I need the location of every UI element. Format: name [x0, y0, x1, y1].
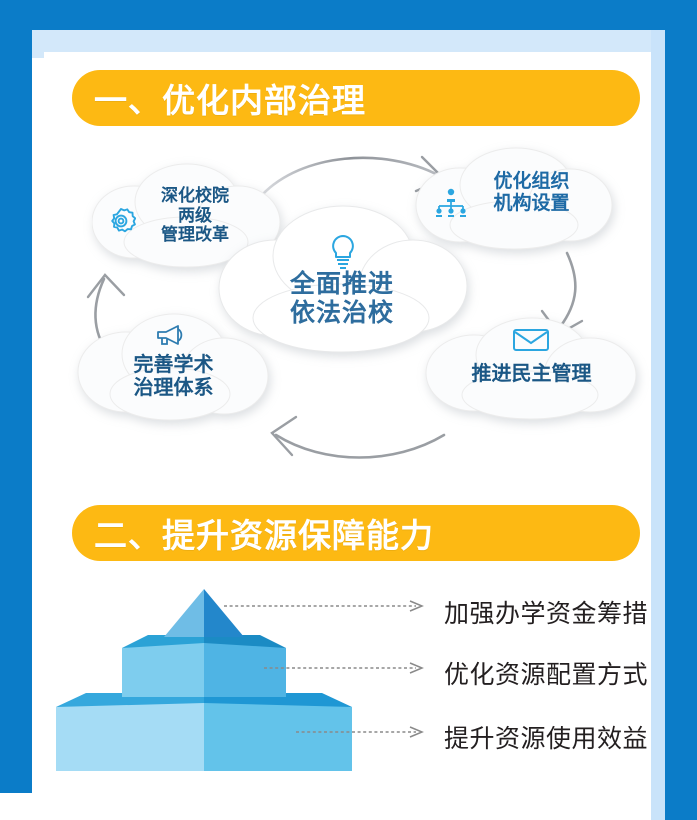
envelope-icon	[512, 327, 550, 358]
cloud-center[interactable]: 全面推进 依法治校	[217, 200, 467, 355]
cloud-bottom-left-label: 完善学术 治理体系	[96, 354, 251, 400]
arrow-bottom-path	[276, 435, 444, 458]
frame-inner-band-top	[32, 30, 665, 52]
infographic-page: 一、优化内部治理	[0, 0, 697, 820]
section-header-1-title: 一、优化内部治理	[72, 74, 366, 122]
arrow-bottom-head	[272, 417, 296, 455]
frame-inner-band-left	[32, 30, 44, 58]
cloud-cycle-diagram: 完善学术 治理体系 深化校院 两级 管理改革	[44, 135, 651, 490]
pyramid-diagram: 加强办学资金筹措 优化资源配置方式 提升资源使用效益	[44, 580, 651, 780]
arrow-top-path	[262, 158, 438, 195]
frame-inner-band-right	[651, 30, 665, 820]
pyramid-label-top: 加强办学资金筹措	[444, 594, 648, 630]
frame-border-top	[0, 0, 697, 30]
pyramid-label-middle: 优化资源配置方式	[444, 655, 648, 691]
frame-border-right	[665, 0, 697, 820]
frame-border-left	[0, 0, 32, 793]
cloud-top-right-label: 优化组织 机构设置	[454, 171, 609, 215]
section-header-2-title: 二、提升资源保障能力	[72, 509, 434, 557]
section-header-1: 一、优化内部治理	[72, 70, 640, 126]
cloud-bottom-right-label: 推进民主管理	[424, 363, 639, 386]
megaphone-icon	[152, 322, 186, 353]
arrow-left-head	[88, 275, 124, 297]
cloud-center-label: 全面推进 依法治校	[217, 270, 467, 328]
section-header-2: 二、提升资源保障能力	[72, 505, 640, 561]
pyramid-label-bottom: 提升资源使用效益	[444, 719, 648, 755]
